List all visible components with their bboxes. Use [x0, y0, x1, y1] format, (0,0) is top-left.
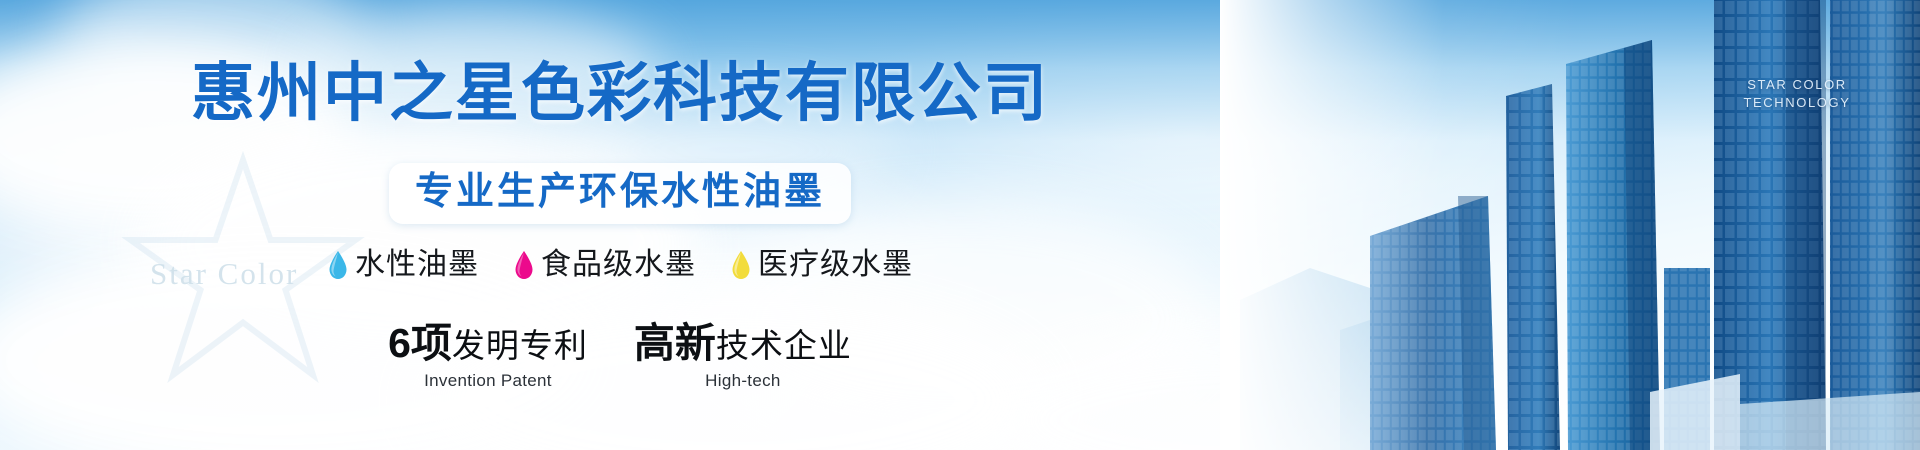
city-brand-line-1: STAR COLOR [1722, 76, 1872, 94]
city-brand-label: STAR COLOR TECHNOLOGY [1722, 76, 1872, 112]
feature-item: 食品级水墨 [513, 248, 696, 282]
badge-subtitle: Invention Patent [388, 370, 588, 392]
company-headline: 惠州中之星色彩科技有限公司 [0, 58, 1240, 128]
badge-subtitle: High-tech [634, 370, 852, 392]
feature-label: 医疗级水墨 [758, 248, 913, 282]
badge-strong-text: 6项 [388, 320, 452, 366]
water-drop-icon [730, 250, 752, 280]
badge-main-text: 高新技术企业 [634, 322, 852, 367]
feature-list: 水性油墨 食品级水墨 医疗级水墨 [0, 248, 1240, 282]
badge-rest-text: 技术企业 [716, 327, 852, 364]
feature-label: 水性油墨 [355, 248, 479, 282]
badge-list: 6项发明专利 Invention Patent 高新技术企业 High-tech [0, 322, 1240, 392]
banner-content: 惠州中之星色彩科技有限公司 专业生产环保水性油墨 水性油墨 食品级水墨 [0, 0, 1240, 450]
badge-main-text: 6项发明专利 [388, 322, 588, 367]
subtitle-pill: 专业生产环保水性油墨 [389, 163, 851, 224]
water-drop-icon [513, 250, 535, 280]
subtitle-pill-row: 专业生产环保水性油墨 [0, 163, 1240, 224]
badge-item: 高新技术企业 High-tech [634, 322, 852, 392]
feature-item: 医疗级水墨 [730, 248, 913, 282]
promo-banner: Star Color [0, 0, 1920, 450]
water-drop-icon [327, 250, 349, 280]
feature-label: 食品级水墨 [541, 248, 696, 282]
badge-item: 6项发明专利 Invention Patent [388, 322, 588, 392]
feature-item: 水性油墨 [327, 248, 479, 282]
city-skyline-image [1220, 0, 1920, 450]
badge-rest-text: 发明专利 [452, 327, 588, 364]
badge-strong-text: 高新 [634, 320, 716, 366]
city-brand-line-2: TECHNOLOGY [1722, 94, 1872, 112]
